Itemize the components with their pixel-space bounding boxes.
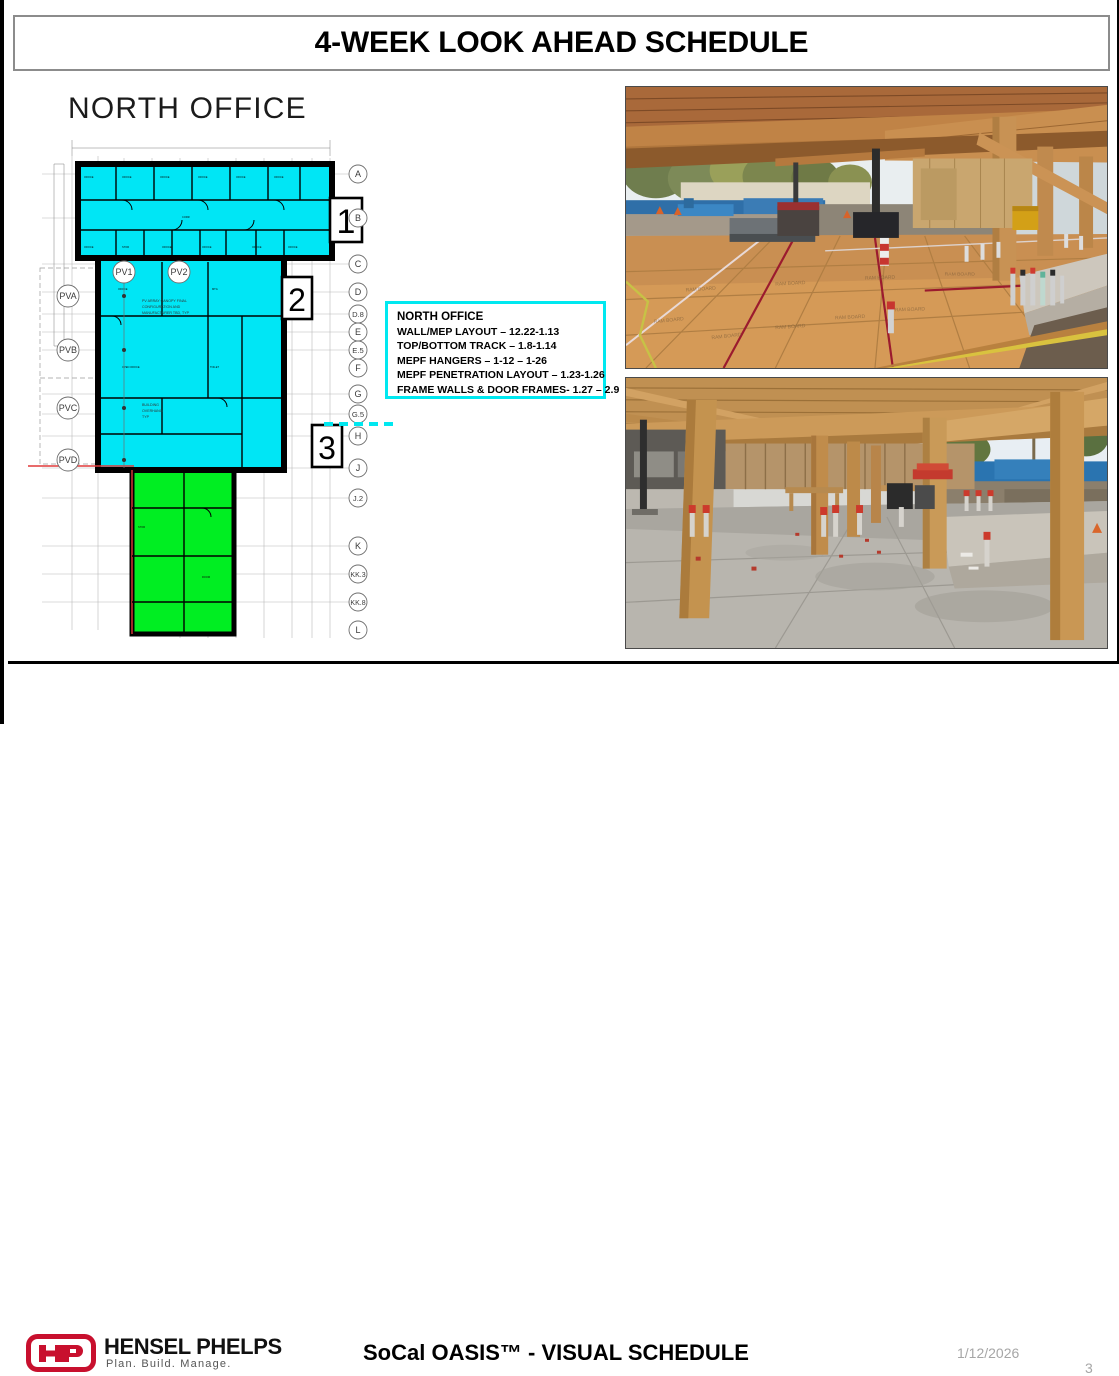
svg-text:OFFICE: OFFICE bbox=[252, 245, 262, 249]
svg-text:STOR: STOR bbox=[138, 525, 145, 529]
callout-line-2: TOP/BOTTOM TRACK – 1.8-1.14 bbox=[397, 339, 599, 354]
slide-canvas: 4-WEEK LOOK AHEAD SCHEDULE NORTH OFFICE bbox=[0, 0, 1119, 724]
company-tagline: Plan. Build. Manage. bbox=[106, 1358, 232, 1370]
zone-badge-2: 2 bbox=[282, 277, 312, 319]
svg-text:PV ARRAY CANOPY FINAL: PV ARRAY CANOPY FINAL bbox=[142, 299, 187, 303]
svg-text:J: J bbox=[356, 463, 361, 473]
zone-green-fill bbox=[132, 470, 234, 634]
svg-text:OFFICE: OFFICE bbox=[84, 245, 94, 249]
svg-text:L: L bbox=[355, 625, 360, 635]
svg-text:RAM BOARD: RAM BOARD bbox=[945, 272, 976, 278]
callout-line-1: WALL/MEP LAYOUT – 12.22-1.13 bbox=[397, 325, 599, 340]
svg-text:E.5: E.5 bbox=[352, 346, 363, 355]
slide-footer: HENSEL PHELPS Plan. Build. Manage. SoCal… bbox=[8, 664, 1119, 724]
hp-logo-icon bbox=[26, 1333, 96, 1373]
svg-text:PVB: PVB bbox=[59, 345, 77, 355]
svg-text:D: D bbox=[355, 287, 362, 297]
svg-text:TOILET: TOILET bbox=[210, 365, 219, 369]
svg-text:OFFICE: OFFICE bbox=[236, 175, 246, 179]
svg-text:OFFICE: OFFICE bbox=[202, 245, 212, 249]
hensel-phelps-logo: HENSEL PHELPS Plan. Build. Manage. bbox=[22, 1332, 312, 1376]
page-title: 4-WEEK LOOK AHEAD SCHEDULE bbox=[315, 26, 809, 60]
svg-text:G.5: G.5 bbox=[352, 410, 364, 419]
svg-text:G: G bbox=[354, 389, 361, 399]
svg-text:F: F bbox=[355, 363, 361, 373]
svg-text:OPEN OFFICE: OPEN OFFICE bbox=[122, 365, 140, 369]
slide-title-box: 4-WEEK LOOK AHEAD SCHEDULE bbox=[13, 15, 1110, 71]
footer-date: 1/12/2026 bbox=[957, 1345, 1019, 1361]
svg-text:OFFICE: OFFICE bbox=[122, 175, 132, 179]
svg-text:OFFICE: OFFICE bbox=[118, 287, 128, 291]
company-name: HENSEL PHELPS bbox=[104, 1334, 282, 1360]
svg-text:E: E bbox=[355, 327, 361, 337]
site-photo-bottom-image bbox=[626, 378, 1107, 648]
svg-text:MTG: MTG bbox=[212, 287, 218, 291]
callout-leader-line bbox=[324, 422, 396, 426]
svg-text:PVA: PVA bbox=[59, 291, 76, 301]
zone-badge-3: 3 bbox=[312, 425, 342, 467]
svg-text:KK.8: KK.8 bbox=[350, 600, 365, 607]
svg-text:H: H bbox=[355, 431, 362, 441]
svg-text:D.8: D.8 bbox=[352, 310, 364, 319]
site-photo-top-image: RAM BOARD RAM BOARD RAM BOARD RAM BOARD … bbox=[626, 87, 1107, 368]
svg-text:OFFICE: OFFICE bbox=[198, 175, 208, 179]
svg-text:RAM BOARD: RAM BOARD bbox=[865, 275, 896, 282]
svg-text:TYP: TYP bbox=[142, 415, 150, 419]
svg-text:OFFICE: OFFICE bbox=[274, 175, 284, 179]
svg-text:PV1: PV1 bbox=[115, 267, 132, 277]
svg-text:B: B bbox=[355, 213, 361, 223]
svg-text:PVD: PVD bbox=[59, 455, 78, 465]
svg-text:PV2: PV2 bbox=[170, 267, 187, 277]
svg-text:OFFICE: OFFICE bbox=[288, 245, 298, 249]
footer-project-title: SoCal OASIS™ - VISUAL SCHEDULE bbox=[363, 1340, 749, 1366]
svg-text:A: A bbox=[355, 169, 361, 179]
svg-text:K: K bbox=[355, 541, 361, 551]
callout-line-5: FRAME WALLS & DOOR FRAMES- 1.27 – 2.9 bbox=[397, 383, 599, 398]
svg-text:BUILDING: BUILDING bbox=[142, 403, 159, 407]
svg-text:J.2: J.2 bbox=[353, 494, 363, 503]
svg-text:STOR: STOR bbox=[122, 245, 129, 249]
svg-text:CORR: CORR bbox=[182, 215, 190, 219]
svg-text:C: C bbox=[355, 259, 362, 269]
svg-text:ROOM: ROOM bbox=[202, 575, 210, 579]
site-photo-bottom bbox=[625, 377, 1108, 649]
schedule-callout-box: NORTH OFFICE WALL/MEP LAYOUT – 12.22-1.1… bbox=[385, 301, 606, 399]
svg-text:OVERHANG: OVERHANG bbox=[142, 409, 163, 413]
svg-text:OFFICE: OFFICE bbox=[162, 245, 172, 249]
svg-text:RAM BOARD: RAM BOARD bbox=[895, 306, 926, 313]
svg-text:CONFIGURATION AND: CONFIGURATION AND bbox=[142, 305, 181, 309]
callout-line-3: MEPF HANGERS – 1-12 – 1-26 bbox=[397, 354, 599, 369]
callout-title: NORTH OFFICE bbox=[397, 310, 599, 325]
footer-page-number: 3 bbox=[1085, 1360, 1093, 1376]
svg-text:PVC: PVC bbox=[59, 403, 78, 413]
svg-text:MANUFACTURER TBD, TYP: MANUFACTURER TBD, TYP bbox=[142, 311, 190, 315]
site-photo-top: RAM BOARD RAM BOARD RAM BOARD RAM BOARD … bbox=[625, 86, 1108, 369]
zone-badge-2-label: 2 bbox=[288, 282, 306, 318]
callout-line-4: MEPF PENETRATION LAYOUT – 1.23-1.26 bbox=[397, 368, 599, 383]
svg-text:KK.3: KK.3 bbox=[350, 572, 365, 579]
svg-text:OFFICE: OFFICE bbox=[160, 175, 170, 179]
zone-badge-3-label: 3 bbox=[318, 430, 336, 466]
svg-text:OFFICE: OFFICE bbox=[84, 175, 94, 179]
